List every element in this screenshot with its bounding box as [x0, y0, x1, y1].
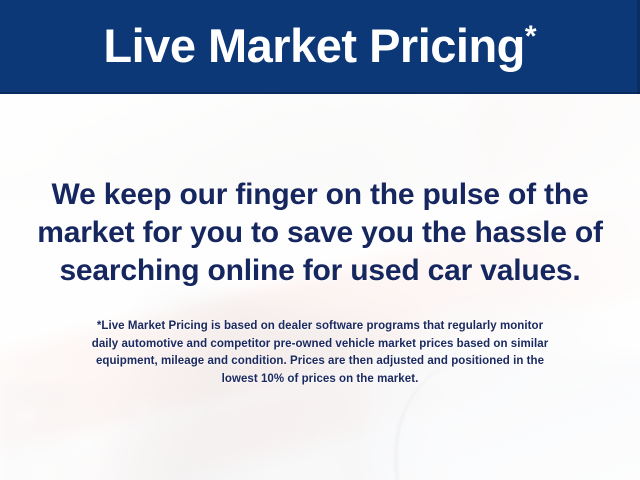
disclaimer-line-1: *Live Market Pricing is based on dealer …: [0, 318, 640, 336]
disclaimer: *Live Market Pricing is based on dealer …: [0, 318, 640, 388]
disclaimer-line-3: equipment, mileage and condition. Prices…: [0, 353, 640, 371]
header-band: Live Market Pricing*: [0, 0, 640, 94]
page-title-asterisk: *: [525, 20, 537, 53]
disclaimer-line-4: lowest 10% of prices on the market.: [0, 371, 640, 389]
headline: We keep our finger on the pulse of the m…: [0, 176, 640, 290]
live-market-pricing-banner: Live Market Pricing* We keep our finger …: [0, 0, 640, 480]
headline-line-2: market for you to save you the hassle of: [0, 214, 640, 252]
page-title: Live Market Pricing*: [103, 22, 536, 73]
disclaimer-line-2: daily automotive and competitor pre-owne…: [0, 336, 640, 354]
page-title-text: Live Market Pricing: [103, 19, 525, 72]
headline-line-1: We keep our finger on the pulse of the: [0, 176, 640, 214]
headline-line-3: searching online for used car values.: [0, 252, 640, 290]
